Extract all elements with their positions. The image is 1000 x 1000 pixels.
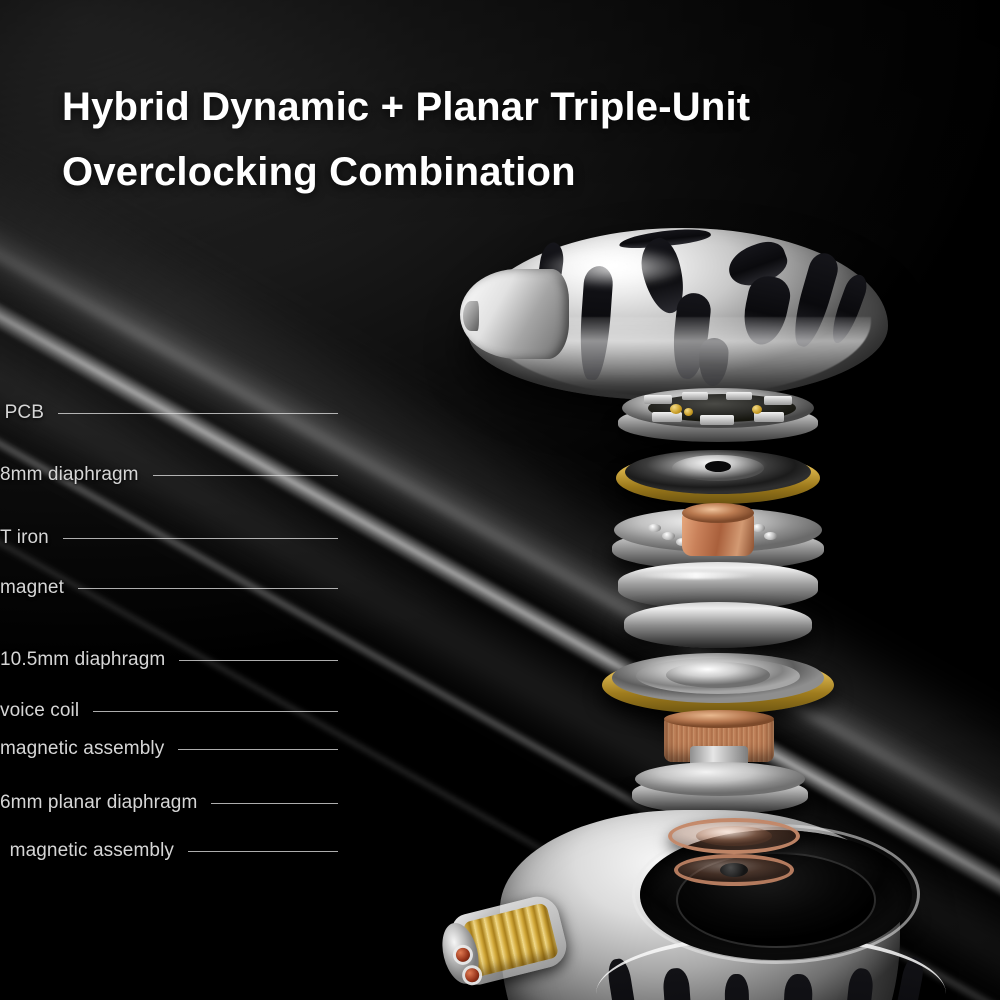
callout-leader-line: [179, 660, 338, 661]
pcb-solder-point: [752, 405, 762, 414]
callout-7: 6mm planar diaphragm: [0, 792, 338, 814]
callout-leader-line: [188, 851, 338, 852]
callout-label: 10.5mm diaphragm: [0, 649, 165, 671]
pcb-contact-pad: [682, 392, 708, 400]
callout-leader-line: [178, 749, 338, 750]
part-faceplate-shell: [468, 228, 888, 400]
title-line-1: Hybrid Dynamic + Planar Triple-Unit: [62, 85, 750, 129]
planar-magnet-core: [720, 863, 748, 877]
pcb-contact-pad: [726, 392, 752, 400]
t-iron-rivet: [648, 524, 661, 532]
title-line-2: Overclocking Combination: [62, 140, 962, 205]
pcb-contact-pad: [644, 395, 672, 404]
magnet-highlight: [636, 572, 756, 579]
callout-label: 6mm planar diaphragm: [0, 792, 197, 814]
callout-6: magnetic assembly: [0, 738, 338, 760]
faceplate-highlight: [510, 238, 720, 296]
planar-membrane: [696, 826, 772, 846]
callout-0: PCB: [0, 402, 338, 424]
magnet-ring-lower: [624, 602, 812, 648]
part-magnetic-assembly-planar: [674, 854, 794, 896]
callout-leader-line: [93, 711, 338, 712]
t-iron-rivet: [764, 532, 777, 540]
pcb-solder-point: [684, 408, 693, 416]
callout-1: 8mm diaphragm: [0, 464, 338, 486]
part-magnet: [618, 562, 818, 658]
infographic-canvas: Hybrid Dynamic + Planar Triple-Unit Over…: [0, 0, 1000, 1000]
callout-label: magnetic assembly: [0, 738, 164, 760]
voice-coil-top: [664, 710, 774, 728]
callout-leader-line: [153, 475, 338, 476]
callout-label: magnet: [0, 577, 64, 599]
callout-leader-line: [63, 538, 338, 539]
page-title: Hybrid Dynamic + Planar Triple-Unit Over…: [62, 75, 962, 205]
t-iron-copper-core-top: [682, 503, 754, 523]
callout-3: magnet: [0, 577, 338, 599]
callout-leader-line: [78, 588, 338, 589]
callout-label: PCB: [5, 402, 44, 424]
callout-label: 8mm diaphragm: [0, 464, 139, 486]
callout-leader-line: [211, 803, 338, 804]
callout-label: magnetic assembly: [10, 840, 174, 862]
callout-4: 10.5mm diaphragm: [0, 649, 338, 671]
connector-pin: [454, 946, 471, 963]
diaphragm-dome: [666, 662, 770, 688]
part-8mm-diaphragm: [616, 446, 820, 508]
diaphragm-center-hole: [705, 461, 731, 472]
exploded-view-illustration: [420, 210, 980, 1000]
callout-label: T iron: [0, 527, 49, 549]
pcb-contact-pad: [700, 415, 734, 425]
pcb-contact-pad: [764, 396, 792, 405]
callout-leader-line: [58, 413, 338, 414]
part-pcb: [618, 388, 818, 448]
pcb-top-face: [622, 388, 814, 428]
magnetic-assembly-plate: [635, 762, 805, 796]
faceplate-lip-inner: [463, 301, 479, 331]
t-iron-rivet: [662, 532, 675, 540]
callout-2: T iron: [0, 527, 338, 549]
callout-8: magnetic assembly: [0, 840, 338, 862]
callout-label: voice coil: [0, 700, 79, 722]
callout-5: voice coil: [0, 700, 338, 722]
pcb-solder-point: [670, 404, 682, 414]
